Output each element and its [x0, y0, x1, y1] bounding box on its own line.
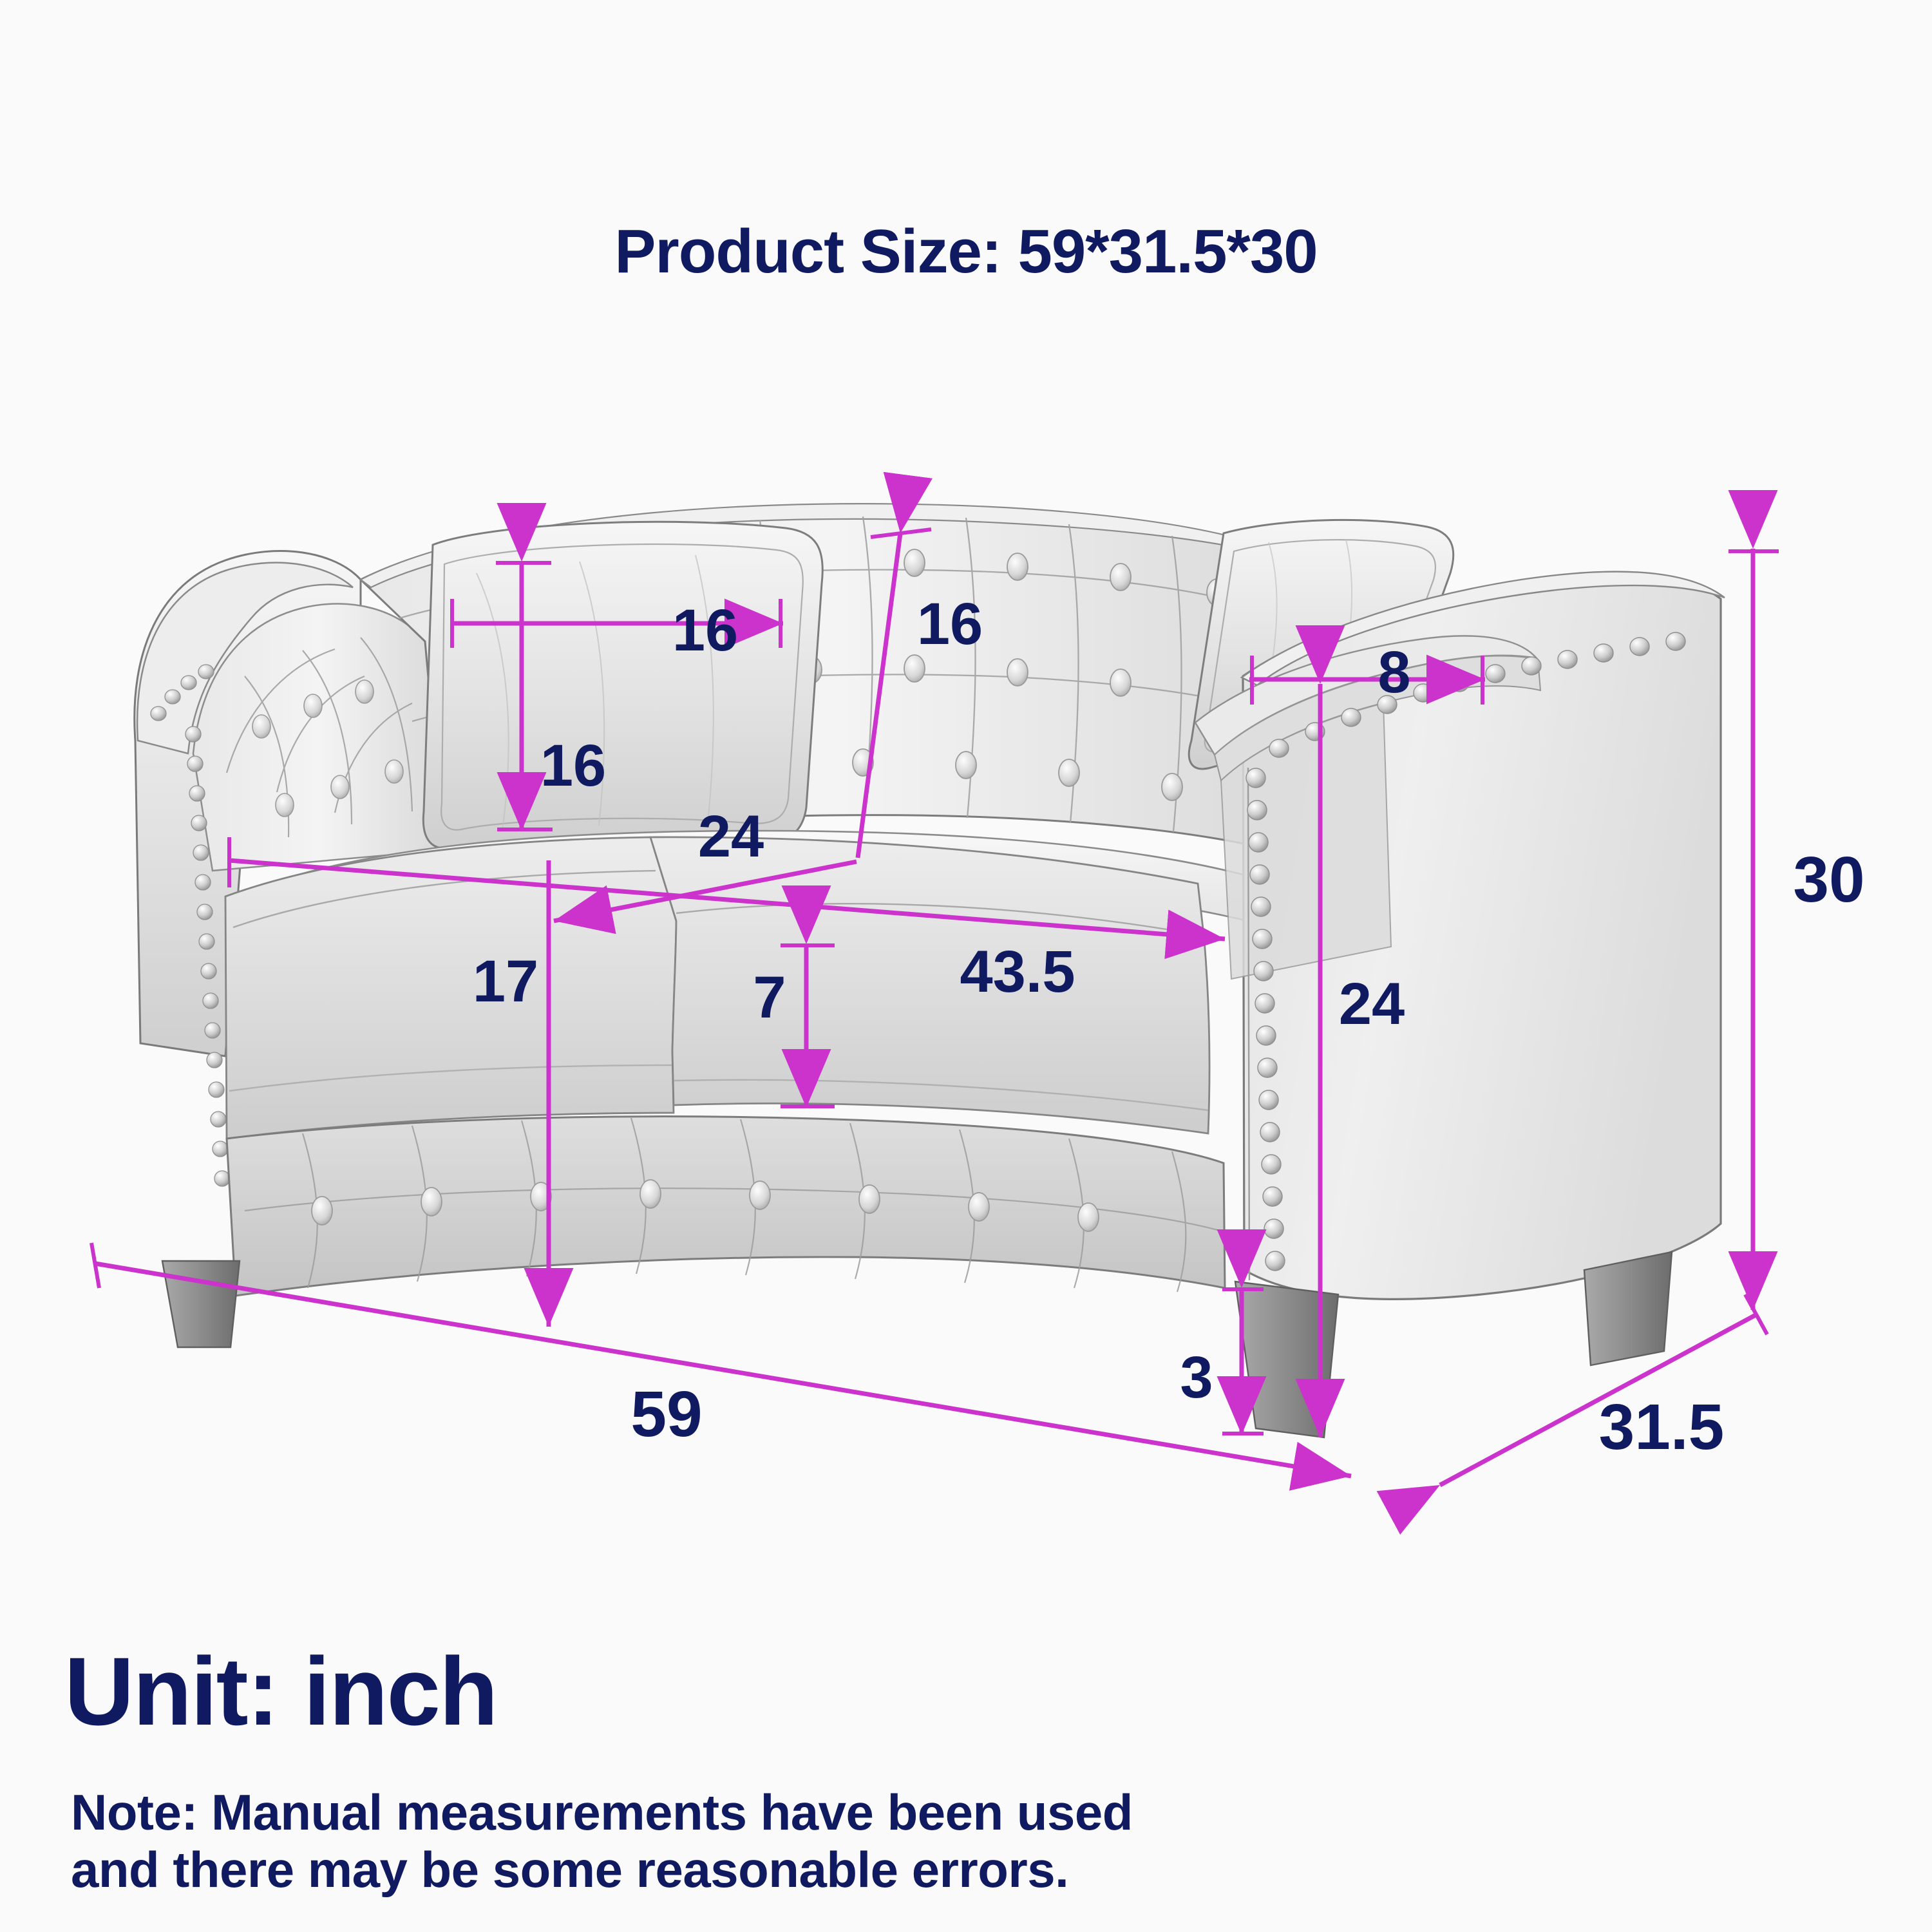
- dim-label-cushion-thickness: 7: [753, 965, 786, 1030]
- dim-label-total-depth: 31.5: [1599, 1391, 1725, 1463]
- throw-pillow-left: [423, 522, 822, 848]
- measurement-note: Note: Manual measurements have been used…: [71, 1784, 1133, 1899]
- dim-label-leg-height: 3: [1180, 1345, 1213, 1410]
- leg-back-right: [1584, 1252, 1672, 1365]
- dim-label-pillow-width: 16: [672, 598, 738, 663]
- seat-cushion-right: [650, 837, 1209, 1133]
- dim-label-backrest-height: 16: [917, 591, 983, 657]
- dim-label-pillow-height: 16: [540, 733, 606, 799]
- dim-total-height: [1728, 549, 1779, 1310]
- dim-label-total-width: 59: [630, 1378, 702, 1450]
- dim-label-arm-width: 8: [1378, 639, 1410, 705]
- unit-label: Unit: inch: [64, 1636, 497, 1747]
- seat-cushion-left: [225, 837, 676, 1139]
- dim-label-seat-width: 43.5: [960, 939, 1075, 1005]
- dim-label-arm-height: 24: [1339, 971, 1405, 1037]
- note-line-1: Note: Manual measurements have been used: [71, 1784, 1133, 1841]
- note-line-2: and there may be some reasonable errors.: [71, 1841, 1133, 1899]
- tufted-base: [227, 1117, 1225, 1296]
- leg-front-right: [1235, 1282, 1338, 1437]
- dim-label-seat-depth: 24: [698, 804, 764, 869]
- dim-label-total-height: 30: [1793, 844, 1864, 916]
- dim-label-seat-height: 17: [473, 949, 538, 1014]
- leg-front-left: [162, 1261, 240, 1347]
